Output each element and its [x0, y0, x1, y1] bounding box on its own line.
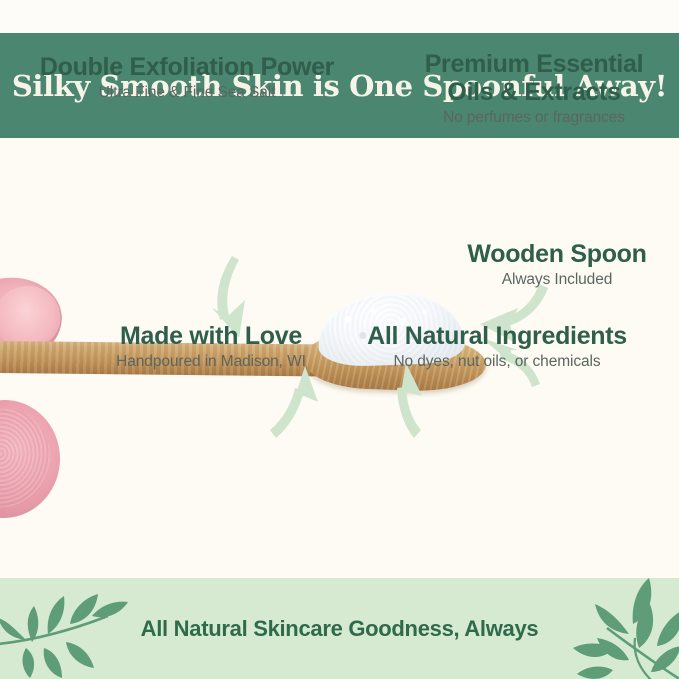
feature-exfoliation: Double Exfoliation Power Ultra Fine & Fi…	[12, 53, 362, 103]
feature-exfoliation-subtitle: Ultra Fine & Fine Sea Salt	[12, 84, 362, 103]
feature-natural-subtitle: No dyes, nut oils, or chemicals	[347, 353, 647, 372]
feature-love: Made with Love Handpoured in Madison, WI	[75, 322, 347, 372]
feature-love-title: Made with Love	[75, 322, 347, 350]
feature-love-subtitle: Handpoured in Madison, WI	[75, 353, 347, 372]
feature-oils-subtitle: No perfumes or fragrances	[396, 109, 672, 128]
feature-oils-title-line1: Premium Essential	[396, 50, 672, 78]
feature-natural-title: All Natural Ingredients	[347, 322, 647, 350]
feature-exfoliation-title: Double Exfoliation Power	[12, 53, 362, 81]
leaf-branch-right-icon	[533, 578, 679, 679]
footer-banner: All Natural Skincare Goodness, Always	[0, 578, 679, 679]
footer-tagline: All Natural Skincare Goodness, Always	[141, 616, 539, 642]
feature-spoon-subtitle: Always Included	[437, 271, 677, 290]
leaf-branch-left-icon	[0, 582, 146, 679]
feature-natural: All Natural Ingredients No dyes, nut oil…	[347, 322, 647, 372]
feature-spoon-title: Wooden Spoon	[437, 240, 677, 268]
product-infographic: Silky Smooth Skin is One Spoonful Away!	[0, 0, 679, 679]
feature-oils: Premium Essential Oils & Extracts No per…	[396, 50, 672, 128]
feature-oils-title: Premium Essential Oils & Extracts	[396, 50, 672, 106]
feature-spoon: Wooden Spoon Always Included	[437, 240, 677, 290]
feature-oils-title-line2: Oils & Extracts	[396, 78, 672, 106]
